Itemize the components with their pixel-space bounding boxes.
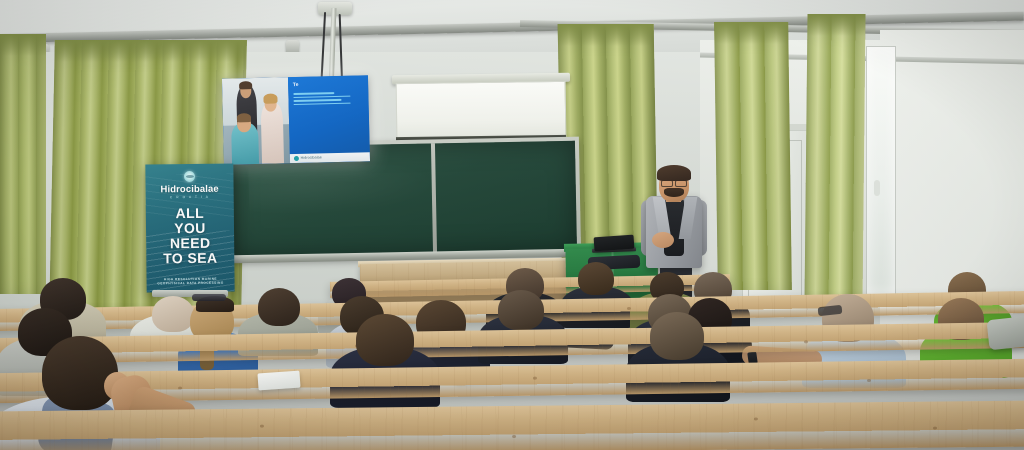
slide-bullet-list — [293, 91, 365, 105]
banner-slogan: ALL YOU NEED TO SEA — [146, 206, 235, 267]
lecture-hall-photo: Te Hidrocibalae Hidrocibalae C R O A T I… — [0, 0, 1024, 450]
banner-footer-line-2: GEOPHYSICAL DATA PROCESSING — [147, 281, 235, 287]
audience-head — [578, 262, 614, 295]
curtain-right-1 — [714, 22, 792, 290]
audience-head — [498, 290, 544, 330]
audience-head — [356, 314, 414, 366]
window — [866, 46, 896, 296]
slide-logo-icon — [294, 156, 299, 161]
presenter-hands — [652, 232, 674, 248]
laptop — [594, 235, 635, 252]
audience-head — [650, 312, 704, 360]
roll-up-banner: Hidrocibalae C R O A T I A ALL YOU NEED … — [145, 164, 234, 293]
presenter-hair — [657, 165, 691, 181]
curtain-right-2 — [804, 14, 865, 306]
presenter-beard — [664, 188, 684, 197]
bag — [987, 316, 1024, 350]
banner-slogan-line: TO SEA — [146, 251, 234, 267]
slide-footer-text: Hidrocibalae — [301, 155, 322, 160]
curtain-far-left — [0, 34, 46, 294]
banner-logo-icon — [184, 171, 195, 182]
slide-title: Te — [293, 80, 364, 88]
notebook — [257, 371, 300, 391]
audience-head — [152, 296, 194, 332]
audience-head-foreground — [42, 336, 118, 410]
slide-photo — [222, 77, 290, 165]
projected-slide: Te Hidrocibalae — [222, 75, 370, 165]
banner-footer: HIGH RESOLUTION MARINE GEOPHYSICAL DATA … — [147, 276, 235, 286]
audience-head — [258, 288, 300, 326]
window-latch — [874, 180, 880, 196]
projection-screen — [396, 81, 567, 139]
slide-text-panel: Te Hidrocibalae — [288, 75, 370, 163]
sunglasses-icon — [192, 294, 226, 301]
